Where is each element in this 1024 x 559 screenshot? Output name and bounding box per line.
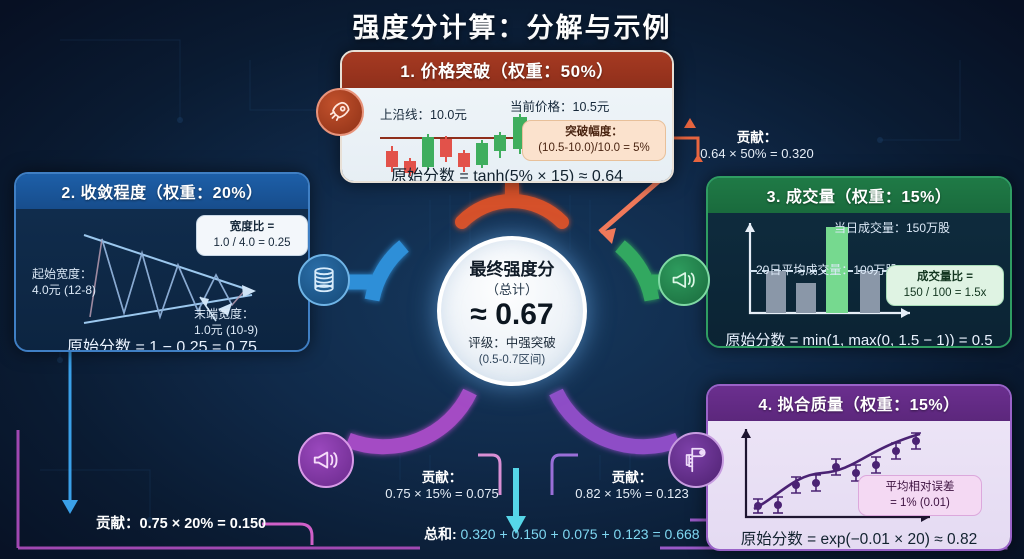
contribution-1-value: 0.64 × 50% = 0.320 <box>676 146 838 161</box>
callout-body: 1.0 / 4.0 = 0.25 <box>213 237 290 249</box>
panel-1-title: 1. 价格突破（权重：50%） <box>342 52 672 88</box>
panel-convergence[interactable]: 2. 收敛程度（权重：20%） 起始宽度： 4.0元 (12-8) 末端宽度： <box>14 172 310 352</box>
sum-label: 总和: <box>424 526 457 542</box>
hub-rating-range: (0.5-0.7区间) <box>479 351 545 367</box>
breakout-magnitude-callout: 突破幅度： (10.5-10.0)/10.0 = 5% <box>522 120 666 161</box>
spring-coil-icon <box>298 254 350 306</box>
megaphone-icon <box>298 432 354 488</box>
sum-expression: 0.320 + 0.150 + 0.075 + 0.123 = 0.668 <box>457 526 700 542</box>
callout-title: 突破幅度： <box>565 126 623 138</box>
hub-title: 最终强度分 <box>470 255 555 280</box>
callout-title: 成交量比 = <box>917 271 973 283</box>
panel-price-breakout[interactable]: 1. 价格突破（权重：50%） <box>340 50 674 183</box>
page-title: 强度分计算：分解与示例 <box>353 13 672 43</box>
callout-title: 平均相对误差 <box>886 481 955 493</box>
panel-4-formula: 原始分数 = exp(−0.01 × 20) ≈ 0.82 <box>708 527 1010 549</box>
contribution-3-value: 0.75 × 15% = 0.075 <box>352 486 532 501</box>
callout-body: 150 / 100 = 1.5x <box>904 287 987 299</box>
panel-3-formula: 原始分数 = min(1, max(0, 1.5 − 1)) = 0.5 <box>708 329 1010 348</box>
total-sum: 总和: 0.320 + 0.150 + 0.075 + 0.123 = 0.66… <box>424 524 700 544</box>
megaphone-icon <box>658 254 710 306</box>
panel-2-formula: 原始分数 = 1 − 0.25 = 0.75 <box>16 333 308 352</box>
arrow-contrib-2 <box>62 352 78 514</box>
avg-volume-label: 20日平均成交量：100万股 <box>756 261 897 278</box>
contribution-2: 贡献：0.75 × 20% = 0.150 <box>96 512 266 533</box>
contribution-1: 贡献： 0.64 × 50% = 0.320 <box>676 126 838 161</box>
width-ratio-callout: 宽度比 = 1.0 / 4.0 = 0.25 <box>196 215 308 256</box>
start-width-value: 4.0元 (12-8) <box>32 281 96 298</box>
panel-4-title: 4. 拟合质量（权重：15%） <box>708 386 1010 421</box>
contribution-2-text: 贡献：0.75 × 20% = 0.150 <box>96 516 266 532</box>
mean-error-callout: 平均相对误差 = 1% (0.01) <box>858 475 982 516</box>
current-price-label: 当前价格：10.5元 <box>510 96 609 115</box>
start-width-title: 起始宽度： <box>32 265 92 282</box>
hub-rating: 评级：中强突破 <box>468 332 556 351</box>
volume-ratio-callout: 成交量比 = 150 / 100 = 1.5x <box>886 265 1004 306</box>
contribution-3-label: 贡献： <box>352 466 532 486</box>
panel-2-title: 2. 收敛程度（权重：20%） <box>16 174 308 209</box>
contribution-3: 贡献： 0.75 × 15% = 0.075 <box>352 466 532 501</box>
hub-value: ≈ 0.67 <box>470 299 553 331</box>
rocket-icon <box>316 88 364 136</box>
callout-title: 宽度比 = <box>230 221 274 233</box>
callout-body: (10.5-10.0)/10.0 = 5% <box>538 142 650 154</box>
caliper-icon <box>668 432 724 488</box>
today-volume-label: 当日成交量：150万股 <box>834 219 950 236</box>
final-score-hub[interactable]: 最终强度分 （总计） ≈ 0.67 评级：中强突破 (0.5-0.7区间) <box>437 236 587 386</box>
panel-3-title: 3. 成交量（权重：15%） <box>708 178 1010 213</box>
panel-1-formula: 原始分数 = tanh(5% × 15) ≈ 0.64 <box>342 162 672 183</box>
hub-subtitle: （总计） <box>486 279 538 298</box>
end-width-title: 末端宽度： <box>194 305 254 322</box>
upper-line-label: 上沿线：10.0元 <box>380 104 467 123</box>
callout-body: = 1% (0.01) <box>890 497 950 509</box>
infographic-canvas: 强度分计算：分解与示例 1. 价格突破（权重：50%） <box>0 0 1024 559</box>
contribution-4-value: 0.82 × 15% = 0.123 <box>542 486 722 501</box>
panel-fit-quality[interactable]: 4. 拟合质量（权重：15%） <box>706 384 1012 551</box>
contribution-1-label: 贡献： <box>676 126 838 146</box>
panel-volume[interactable]: 3. 成交量（权重：15%） 当日成交量：150万股 20日平均成交量：100万… <box>706 176 1012 348</box>
